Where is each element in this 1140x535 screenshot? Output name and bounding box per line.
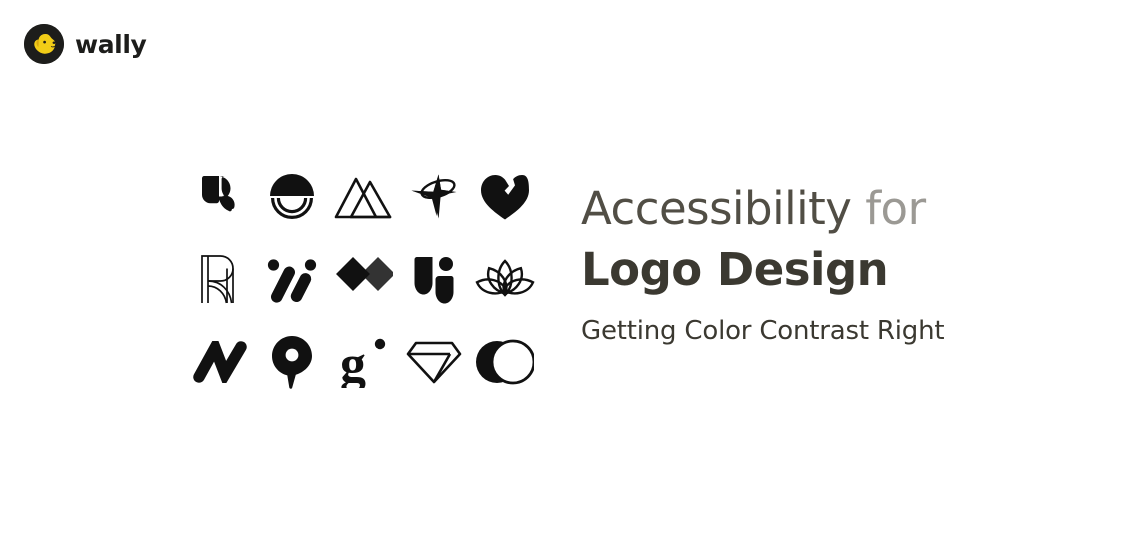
title-accessibility: Accessibility bbox=[581, 182, 851, 235]
r-monogram-mark-icon bbox=[198, 253, 244, 305]
title-line-2: Logo Design bbox=[581, 239, 1081, 300]
logo-mark-cell-sunset-circle-mark[interactable] bbox=[257, 160, 327, 232]
orbit-star-mark-icon bbox=[407, 169, 461, 223]
lotus-mark-icon bbox=[475, 257, 535, 301]
slashes-dots-mark-icon bbox=[266, 254, 318, 304]
overlapping-circles-mark-icon bbox=[476, 337, 534, 387]
diamond-outline-mark-icon bbox=[406, 338, 462, 386]
location-pin-nine-mark-icon bbox=[271, 335, 313, 389]
logo-mark-cell-leaf-person-mark[interactable] bbox=[399, 243, 469, 315]
logo-mark-cell-overlapping-circles-mark[interactable] bbox=[470, 326, 540, 398]
sunset-circle-mark-icon bbox=[267, 171, 317, 221]
logo-mark-cell-orbit-star-mark[interactable] bbox=[399, 160, 469, 232]
svg-text:g: g bbox=[340, 336, 366, 388]
logo-mark-cell-slashes-dots-mark[interactable] bbox=[257, 243, 327, 315]
logo-mark-cell-lotus-mark[interactable] bbox=[470, 243, 540, 315]
leaf-person-mark-icon bbox=[410, 252, 458, 306]
logo-mark-cell-double-diamond-mark[interactable] bbox=[328, 243, 398, 315]
leaf-k-mark-icon bbox=[195, 170, 247, 222]
logo-mark-cell-r-monogram-mark[interactable] bbox=[186, 243, 256, 315]
logo-mark-cell-diamond-outline-mark[interactable] bbox=[399, 326, 469, 398]
double-diamond-mark-icon bbox=[333, 255, 393, 303]
serif-g-dot-mark-icon: g bbox=[339, 336, 387, 388]
brand-lockup[interactable]: wally bbox=[24, 24, 146, 64]
title-line-1: Accessibility for bbox=[581, 178, 1081, 239]
logo-mark-cell-heart-mark[interactable] bbox=[470, 160, 540, 232]
brand-name: wally bbox=[75, 32, 146, 57]
heart-mark-icon bbox=[479, 171, 531, 221]
logo-mark-cell-zigzag-n-mark[interactable] bbox=[186, 326, 256, 398]
mountains-mark-icon bbox=[334, 172, 392, 220]
logo-mark-cell-location-pin-nine-mark[interactable] bbox=[257, 326, 327, 398]
slide-canvas: wally bbox=[0, 0, 1140, 535]
subtitle: Getting Color Contrast Right bbox=[581, 313, 1081, 349]
logo-mark-grid: g bbox=[186, 160, 540, 409]
title-for: for bbox=[865, 182, 925, 235]
dog-head-icon bbox=[24, 24, 64, 64]
title-block: Accessibility for Logo Design Getting Co… bbox=[581, 178, 1081, 349]
logo-mark-cell-serif-g-dot-mark[interactable]: g bbox=[328, 326, 398, 398]
logo-mark-cell-leaf-k-mark[interactable] bbox=[186, 160, 256, 232]
logo-mark-cell-mountains-mark[interactable] bbox=[328, 160, 398, 232]
zigzag-n-mark-icon bbox=[193, 341, 249, 383]
